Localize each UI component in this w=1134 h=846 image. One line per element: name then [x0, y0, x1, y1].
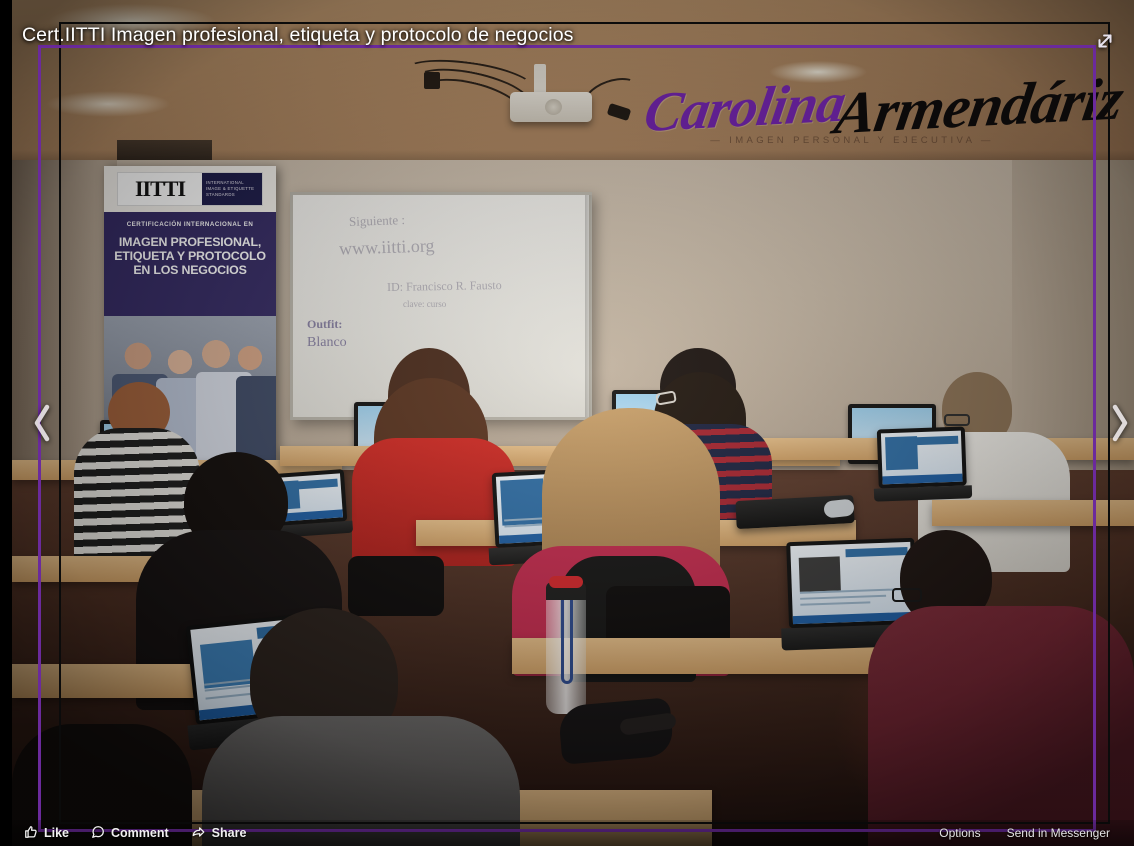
action-bar-right: Options Send in Messenger [939, 826, 1134, 840]
banner-title-line: ETIQUETA Y PROTOCOLO [110, 249, 270, 263]
chair-back [348, 556, 444, 616]
projector-mount [534, 64, 546, 94]
whiteboard-line: Blanco [307, 335, 347, 351]
thumbs-up-icon [24, 825, 38, 842]
action-bar-left: Like Comment Share [0, 825, 246, 842]
whiteboard-line: ID: Francisco R. Fausto [387, 278, 502, 295]
previous-photo-button[interactable] [22, 387, 62, 459]
photo-viewer: Siguiente : www.iitti.org ID: Francisco … [0, 0, 1134, 846]
next-photo-button[interactable] [1100, 387, 1134, 459]
banner-logo-area: IITTI INTERNATIONAL IMAGE & ETIQUETTE ST… [104, 166, 276, 212]
laptop [877, 426, 967, 501]
iitti-logo-text: IITTI [118, 173, 202, 205]
bottle-strap [561, 600, 573, 684]
whiteboard-shadow [585, 195, 593, 417]
share-arrow-icon [191, 825, 206, 842]
iitti-logo-subtitle: INTERNATIONAL IMAGE & ETIQUETTE STANDARD… [202, 173, 262, 205]
glasses-icon [892, 588, 922, 602]
student-body [352, 438, 516, 566]
student-body [868, 606, 1134, 846]
banner-title-line: EN LOS NEGOCIOS [110, 263, 270, 277]
cable-junction-box [424, 72, 440, 89]
desk [932, 500, 1134, 526]
comment-button[interactable]: Comment [91, 825, 169, 842]
banner-text-area: CERTIFICACIÓN INTERNACIONAL EN IMAGEN PR… [104, 212, 276, 316]
comment-label: Comment [111, 826, 169, 840]
iitti-logo: IITTI INTERNATIONAL IMAGE & ETIQUETTE ST… [117, 172, 263, 206]
banner-title-line: IMAGEN PROFESIONAL, [110, 235, 270, 249]
share-label: Share [212, 826, 247, 840]
like-label: Like [44, 826, 69, 840]
expand-diagonal-icon[interactable] [1088, 24, 1122, 58]
photo-action-bar: Like Comment Share [0, 820, 1134, 846]
photo-title: Cert.IITTI Imagen profesional, etiqueta … [22, 24, 822, 47]
options-label: Options [939, 826, 980, 840]
whiteboard-line: clave: curso [403, 299, 446, 309]
share-button[interactable]: Share [191, 825, 247, 842]
send-in-messenger-label: Send in Messenger [1007, 826, 1110, 840]
options-button[interactable]: Options [939, 826, 980, 840]
projector-lens [545, 99, 562, 115]
banner-kicker: CERTIFICACIÓN INTERNACIONAL EN [110, 221, 270, 228]
whiteboard-line: Siguiente : [349, 212, 405, 230]
whiteboard-line: Outfit: [307, 317, 342, 332]
glasses-icon [944, 414, 970, 426]
folded-jacket [558, 697, 675, 765]
whiteboard-line: www.iitti.org [339, 235, 435, 259]
like-button[interactable]: Like [24, 825, 69, 842]
speech-bubble-icon [91, 825, 105, 842]
send-in-messenger-button[interactable]: Send in Messenger [1007, 826, 1110, 840]
letterbox-left [0, 0, 12, 846]
photo-image: Siguiente : www.iitti.org ID: Francisco … [12, 0, 1134, 846]
logo-subtitle-line: STANDARDS [206, 192, 262, 198]
bottle-lid [549, 576, 583, 588]
